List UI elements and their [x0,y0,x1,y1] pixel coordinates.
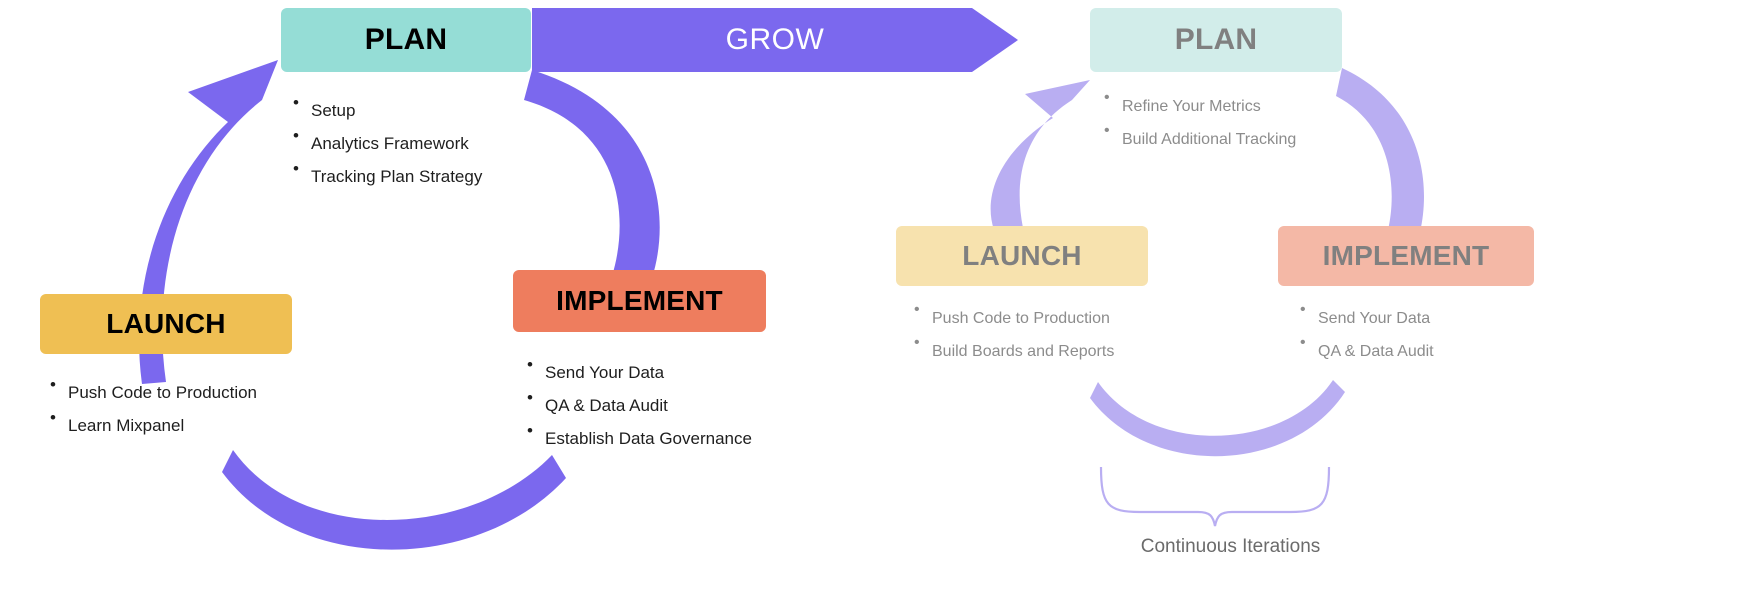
bullet-text: Build Additional Tracking [1122,123,1296,156]
stage-launch-bullets: • Push Code to Production • Learn Mixpan… [40,376,292,442]
stage-implement-title: IMPLEMENT [556,285,723,317]
list-item: • Build Additional Tracking [1104,123,1342,156]
bullet-icon: • [293,160,311,177]
list-item: • QA & Data Audit [527,389,766,422]
stage-plan-bullets: • Setup • Analytics Framework • Tracking… [281,94,531,193]
stage-next-plan: PLAN • Refine Your Metrics • Build Addit… [1090,8,1342,156]
stage-implement-bullets: • Send Your Data • QA & Data Audit • Est… [513,356,766,455]
stage-launch-header: LAUNCH [40,294,292,354]
bullet-icon: • [914,302,932,318]
stage-next-implement-bullets: • Send Your Data • QA & Data Audit [1278,302,1534,368]
stage-launch: LAUNCH • Push Code to Production • Learn… [40,294,292,442]
arrow-plan-to-implement [524,70,660,278]
bullet-icon: • [293,94,311,111]
bullet-text: Refine Your Metrics [1122,90,1261,123]
bullet-text: Learn Mixpanel [68,409,184,442]
grow-banner: GROW [532,8,1018,72]
stage-next-launch-header: LAUNCH [896,226,1148,286]
bullet-icon: • [527,356,545,373]
list-item: • Refine Your Metrics [1104,90,1342,123]
grow-label: GROW [726,23,825,57]
continuous-iterations-label: Continuous Iterations [1133,536,1328,558]
list-item: • Send Your Data [1300,302,1534,335]
list-item: • Push Code to Production [50,376,292,409]
stage-launch-title: LAUNCH [106,308,225,340]
arrow-next-plan-to-implement [1336,68,1424,232]
list-item: • Tracking Plan Strategy [293,160,531,193]
bullet-icon: • [1300,302,1318,318]
stage-next-implement: IMPLEMENT • Send Your Data • QA & Data A… [1278,226,1534,368]
stage-next-plan-bullets: • Refine Your Metrics • Build Additional… [1090,90,1342,156]
bullet-icon: • [1104,90,1122,106]
bullet-icon: • [914,335,932,351]
stage-next-launch-title: LAUNCH [962,240,1081,272]
stage-plan: PLAN • Setup • Analytics Framework • Tra… [281,8,531,193]
bullet-text: Push Code to Production [932,302,1110,335]
stage-next-plan-header: PLAN [1090,8,1342,72]
list-item: • Analytics Framework [293,127,531,160]
list-item: • Learn Mixpanel [50,409,292,442]
continuous-iterations-brace [1101,467,1329,526]
bullet-text: Send Your Data [1318,302,1430,335]
stage-next-plan-title: PLAN [1175,23,1257,57]
stage-implement-header: IMPLEMENT [513,270,766,332]
list-item: • QA & Data Audit [1300,335,1534,368]
stage-next-launch: LAUNCH • Push Code to Production • Build… [896,226,1148,368]
bullet-icon: • [1300,335,1318,351]
bullet-text: Establish Data Governance [545,422,752,455]
bullet-icon: • [527,422,545,439]
bullet-text: QA & Data Audit [1318,335,1434,368]
bullet-text: Push Code to Production [68,376,257,409]
bullet-text: Build Boards and Reports [932,335,1114,368]
stage-plan-title: PLAN [365,23,447,57]
bullet-text: QA & Data Audit [545,389,668,422]
bullet-text: Tracking Plan Strategy [311,160,482,193]
bullet-icon: • [1104,123,1122,139]
stage-plan-header: PLAN [281,8,531,72]
bullet-text: Send Your Data [545,356,664,389]
list-item: • Send Your Data [527,356,766,389]
bullet-icon: • [527,389,545,406]
arrow-next-launch-to-plan [991,80,1090,230]
stage-implement: IMPLEMENT • Send Your Data • QA & Data A… [513,270,766,455]
list-item: • Establish Data Governance [527,422,766,455]
stage-next-implement-header: IMPLEMENT [1278,226,1534,286]
diagram-canvas: GROW PLAN • Setup • Analytics Framework … [0,0,1740,589]
bullet-text: Setup [311,94,355,127]
bullet-icon: • [50,409,68,426]
stage-next-implement-title: IMPLEMENT [1323,240,1490,272]
arrow-implement-to-launch [222,450,566,550]
arrow-next-implement-to-launch [1090,380,1345,456]
bullet-icon: • [50,376,68,393]
list-item: • Build Boards and Reports [914,335,1148,368]
bullet-text: Analytics Framework [311,127,469,160]
list-item: • Push Code to Production [914,302,1148,335]
bullet-icon: • [293,127,311,144]
stage-next-launch-bullets: • Push Code to Production • Build Boards… [896,302,1148,368]
list-item: • Setup [293,94,531,127]
